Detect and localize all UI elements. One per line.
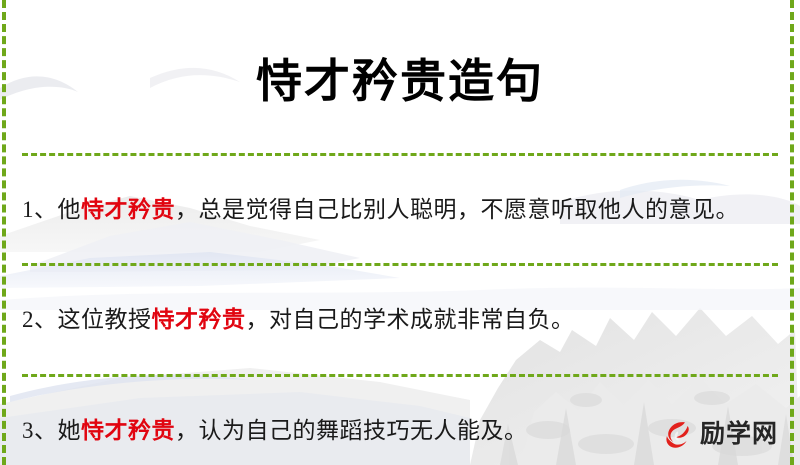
example-sentence-2: 2、这位教授恃才矜贵，对自己的学术成就非常自负。 (18, 289, 782, 350)
sentence-2-index: 2、 (22, 307, 58, 332)
sentence-2-prefix: 这位教授 (58, 307, 152, 332)
sentence-2-suffix: ，对自己的学术成就非常自负。 (246, 307, 575, 332)
divider-top (22, 153, 778, 156)
sentence-3-suffix: ，认为自己的舞蹈技巧无人能及。 (175, 418, 528, 443)
sentence-2-idiom: 恃才矜贵 (152, 307, 246, 332)
sentence-1-idiom: 恃才矜贵 (81, 197, 175, 222)
card-content: 恃才矜贵造句 1、他恃才矜贵，总是觉得自己比别人聪明，不愿意听取他人的意见。 2… (0, 31, 800, 465)
sentence-1-prefix: 他 (58, 197, 82, 222)
example-sentence-1: 1、他恃才矜贵，总是觉得自己比别人聪明，不愿意听取他人的意见。 (18, 179, 782, 240)
sentence-1-index: 1、 (22, 197, 58, 222)
sentence-3-prefix: 她 (58, 418, 82, 443)
red-swirl-flame-icon (660, 417, 694, 451)
brand-watermark: 励学网 (660, 417, 778, 451)
sentence-3-idiom: 恃才矜贵 (81, 418, 175, 443)
sentence-3-index: 3、 (22, 418, 58, 443)
divider-after-sentence-2 (22, 374, 778, 377)
page-title: 恃才矜贵造句 (18, 31, 782, 123)
frame-border-left (2, 0, 6, 465)
brand-name: 励学网 (700, 422, 778, 447)
sentence-1-suffix: ，总是觉得自己比别人聪明，不愿意听取他人的意见。 (175, 197, 739, 222)
sentence-example-card: 恃才矜贵造句 1、他恃才矜贵，总是觉得自己比别人聪明，不愿意听取他人的意见。 2… (0, 0, 800, 465)
divider-after-sentence-1 (22, 263, 778, 266)
frame-border-right (790, 0, 794, 465)
